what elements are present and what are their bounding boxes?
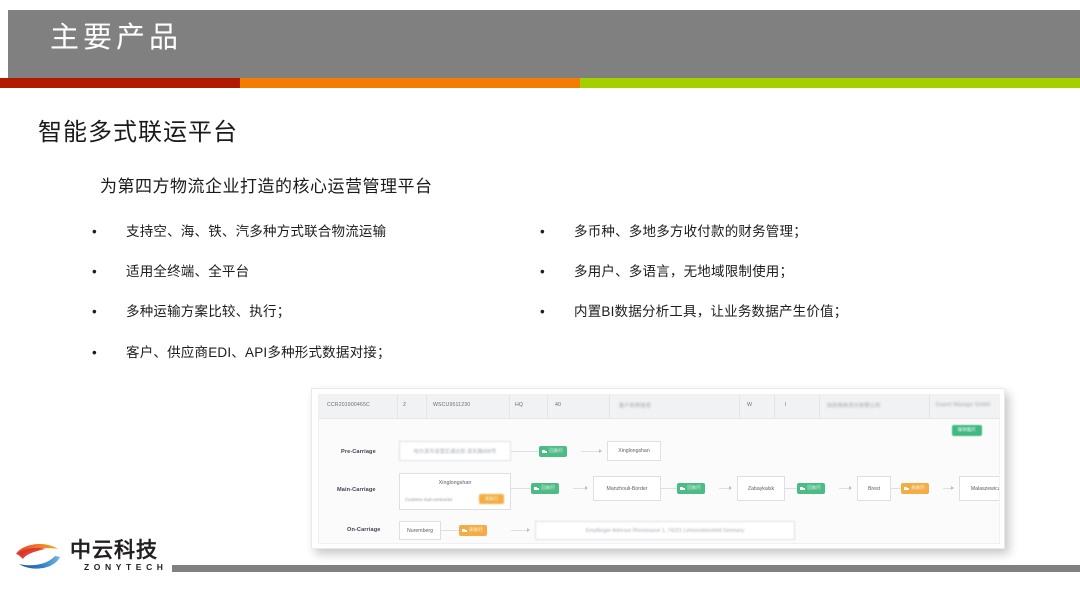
app-screenshot-panel: CCR201900465C 2 WSCU9511230 HQ 40 客户名称信息… — [311, 388, 1005, 549]
node-main-4: Malaszewicze — [959, 476, 1000, 501]
bullet-list-left: • 支持空、海、铁、汽多种方式联合物流运输 • 适用全终端、全平台 • 多种运输… — [92, 224, 532, 385]
connector-line — [891, 488, 901, 489]
connector-line — [441, 530, 459, 531]
node-main-2: Zabaykalsk — [737, 476, 785, 501]
status-badge-executed: 已执行 — [797, 483, 825, 494]
code-i-value: I — [785, 402, 787, 408]
column-divider — [774, 395, 775, 419]
node-on-origin: Nuremberg — [399, 521, 441, 540]
list-item: • 支持空、海、铁、汽多种方式联合物流运输 — [92, 224, 532, 240]
accent-stripe-orange — [240, 78, 580, 88]
arrow-icon — [527, 528, 530, 532]
arrow-icon — [849, 486, 852, 490]
customs-subcontractor-row: Customs-Sub-contractor 未执行 — [402, 492, 508, 506]
bullet-dot-icon: • — [540, 224, 574, 240]
bullet-dot-icon: • — [92, 224, 126, 240]
section-subtitle: 为第四方物流企业打造的核心运营管理平台 — [100, 172, 433, 197]
bullet-dot-icon: • — [92, 304, 126, 320]
page-title: 主要产品 — [50, 24, 182, 53]
bullet-dot-icon: • — [92, 264, 126, 280]
list-item: • 多币种、多地多方收付款的财务管理； — [540, 224, 1000, 240]
accent-stripe-red — [0, 78, 240, 88]
status-badge-executed: 已执行 — [539, 446, 567, 457]
route-label-on-carriage: On-Carriage — [347, 527, 380, 533]
connector-line — [839, 488, 849, 489]
zonytech-logo-icon — [14, 540, 62, 572]
column-divider — [547, 395, 548, 419]
bullet-list-right: • 多币种、多地多方收付款的财务管理； • 多用户、多语言，无地域限制使用； •… — [540, 224, 1000, 345]
list-item-label: 多种运输方案比较、执行； — [126, 304, 532, 320]
route-label-pre-carriage: Pre-Carriage — [341, 449, 376, 455]
connector-line — [511, 530, 527, 531]
connector-line — [785, 488, 797, 489]
list-item-label: 支持空、海、铁、汽多种方式联合物流运输 — [126, 224, 532, 240]
connector-line — [511, 488, 531, 489]
arrow-icon — [599, 449, 602, 453]
shipper-value: 客户名称信息 — [619, 402, 651, 409]
list-item-label: 适用全终端、全平台 — [126, 264, 532, 280]
consignee-value: 目的地收货方有限公司 — [827, 402, 880, 409]
column-divider — [819, 395, 820, 419]
quantity-value: 2 — [403, 402, 406, 408]
node-on-destination: Empfänger Adresse Rhmstrasse 1, 74221 Le… — [535, 521, 795, 540]
connector-line — [719, 488, 729, 489]
route-row-main-carriage: Main-Carriage Xinglongshan Customs-Sub-c… — [319, 473, 1000, 511]
connector-line — [581, 451, 599, 452]
list-item-label: 多用户、多语言，无地域限制使用； — [574, 264, 1000, 280]
agent-value: Export Manage GmbH — [936, 402, 990, 408]
slide: 主要产品 智能多式联运平台 为第四方物流企业打造的核心运营管理平台 • 支持空、… — [0, 0, 1080, 608]
list-item-label: 客户、供应商EDI、API多种形式数据对接； — [126, 345, 532, 361]
list-item: • 内置BI数据分析工具，让业务数据产生价值； — [540, 304, 1000, 320]
route-label-main-carriage: Main-Carriage — [337, 487, 376, 493]
list-item-label: 多币种、多地多方收付款的财务管理； — [574, 224, 1000, 240]
logo-name-cn: 中云科技 — [70, 540, 158, 562]
column-divider — [929, 395, 930, 419]
column-divider — [397, 395, 398, 419]
arrow-icon — [729, 486, 732, 490]
bullet-dot-icon: • — [540, 264, 574, 280]
footer-bar — [172, 565, 1080, 572]
node-pre-destination: Xinglongshan — [607, 441, 661, 461]
bullet-dot-icon: • — [540, 304, 574, 320]
customs-status-badge: 未执行 — [479, 494, 504, 504]
connector-line — [661, 488, 677, 489]
train-icon — [800, 486, 805, 491]
logo-name-en: ZONYTECH — [84, 562, 168, 572]
status-badge-executed: 已执行 — [531, 483, 559, 494]
status-badge-not-executed: 未执行 — [901, 483, 929, 494]
booking-no-value: CCR201900465C — [327, 402, 370, 408]
section-title: 智能多式联运平台 — [38, 112, 238, 147]
list-item: • 多种运输方案比较、执行； — [92, 304, 532, 320]
list-item: • 多用户、多语言，无地域限制使用； — [540, 264, 1000, 280]
route-row-pre-carriage: Pre-Carriage 哈尔滨市道里区通达街 道东路888号 已执行 Xing… — [319, 441, 1000, 463]
node-main-0-label: Xinglongshan — [402, 474, 508, 492]
node-main-3: Brest — [857, 476, 891, 501]
train-icon — [904, 486, 909, 491]
customs-subcontractor-label: Customs-Sub-contractor — [405, 497, 453, 502]
node-main-0: Xinglongshan Customs-Sub-contractor 未执行 — [399, 473, 511, 510]
train-icon — [680, 486, 685, 491]
truck-icon — [462, 528, 467, 533]
node-main-1: Manzhouli-Border — [593, 476, 661, 501]
arrow-icon — [951, 486, 954, 490]
save-image-button[interactable]: 保存图片 — [952, 425, 982, 436]
node-pre-origin: 哈尔滨市道里区通达街 道东路888号 — [399, 441, 511, 461]
container-no-value: WSCU9511230 — [433, 402, 470, 408]
connector-line — [943, 488, 951, 489]
route-row-on-carriage: On-Carriage Nuremberg 未执行 Empfänger Adre… — [319, 521, 1000, 543]
container-size-value: 40 — [555, 402, 561, 408]
train-icon — [534, 486, 539, 491]
code-w-value: W — [747, 402, 752, 408]
column-divider — [509, 395, 510, 419]
app-screenshot-inner: CCR201900465C 2 WSCU9511230 HQ 40 客户名称信息… — [318, 394, 1000, 544]
list-item-label: 内置BI数据分析工具，让业务数据产生价值； — [574, 304, 1000, 320]
bullet-dot-icon: • — [92, 345, 126, 361]
truck-icon — [542, 449, 547, 454]
arrow-icon — [585, 486, 588, 490]
shipment-summary-row — [319, 395, 1000, 419]
column-divider — [426, 395, 427, 419]
status-badge-not-executed: 未执行 — [459, 525, 487, 536]
list-item: • 适用全终端、全平台 — [92, 264, 532, 280]
column-divider — [739, 395, 740, 419]
column-divider — [609, 395, 610, 419]
container-type-value: HQ — [515, 402, 523, 408]
status-badge-executed: 已执行 — [677, 483, 705, 494]
connector-line — [573, 488, 585, 489]
connector-line — [511, 451, 539, 452]
accent-stripe-green — [580, 78, 1080, 88]
list-item: • 客户、供应商EDI、API多种形式数据对接； — [92, 345, 532, 361]
